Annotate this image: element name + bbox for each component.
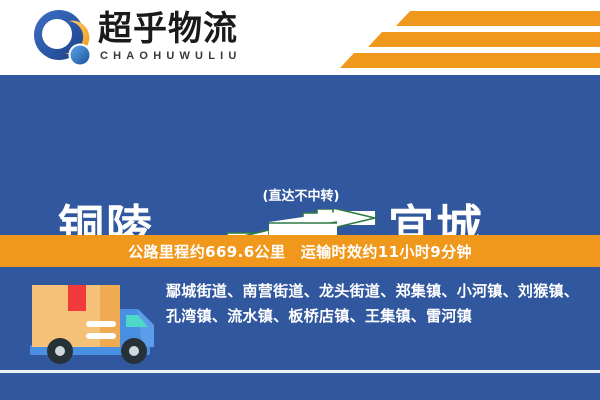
route-info-bar: 公路里程约669.6公里 运输时效约11小时9分钟 (0, 235, 600, 267)
ground-line (0, 370, 600, 373)
speed-stripe-3 (340, 53, 600, 68)
logistics-route-banner: 超乎物流 CHAOHUWULIU 铜陵 (直达不中转) (0, 0, 600, 400)
coverage-areas-text: 鄢城街道、南营街道、龙头街道、郑集镇、小河镇、刘猴镇、孔湾镇、流水镇、板桥店镇、… (166, 279, 586, 329)
speed-stripes-icon (340, 0, 600, 75)
coverage-panel: 鄢城街道、南营街道、龙头街道、郑集镇、小河镇、刘猴镇、孔湾镇、流水镇、板桥店镇、… (0, 267, 600, 400)
brand-logo-group[interactable]: 超乎物流 CHAOHUWULIU (32, 6, 332, 70)
circle-crescent-logo-icon (32, 8, 94, 70)
route-panel: 铜陵 (直达不中转) 【往返运输】 (0, 75, 600, 235)
brand-name-cn: 超乎物流 (98, 10, 238, 48)
banner-header: 超乎物流 CHAOHUWULIU (0, 0, 600, 75)
brand-name-en: CHAOHUWULIU (100, 50, 242, 63)
brand-text-block: 超乎物流 CHAOHUWULIU (98, 10, 328, 68)
distance-duration-text: 公路里程约669.6公里 运输时效约11小时9分钟 (128, 241, 472, 262)
speed-stripe-1 (396, 11, 600, 26)
speed-stripe-2 (368, 32, 600, 47)
delivery-truck-icon (22, 277, 162, 372)
direct-shipping-note: (直达不中转) (225, 189, 377, 205)
